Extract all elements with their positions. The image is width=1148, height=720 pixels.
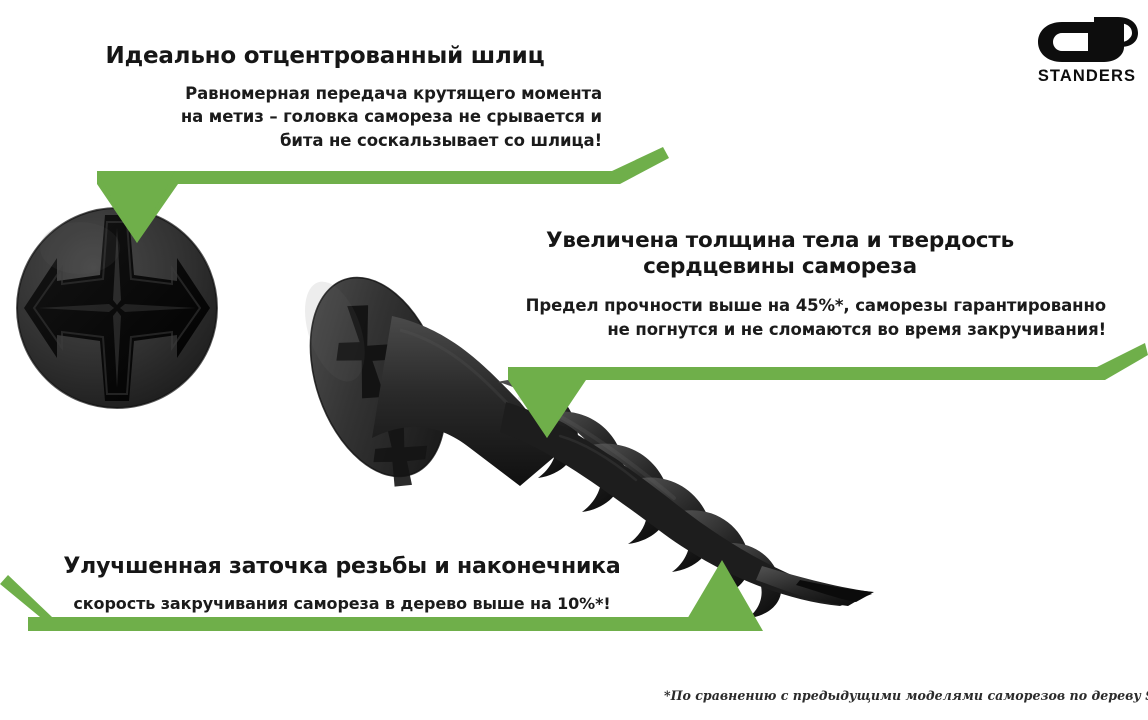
infographic-canvas: STANDERS Идеально отцентрованный шлиц Ра… xyxy=(0,0,1148,720)
callout-2-headline-line-2: сердцевины самореза xyxy=(450,254,1110,280)
callout-1-headline: Идеально отцентрованный шлиц xyxy=(40,42,610,70)
callout-3-headline: Улучшенная заточка резьбы и наконечника xyxy=(22,554,662,581)
callout-bar-2 xyxy=(508,343,1148,438)
callout-1-body-line-2: на метиз – головка самореза не срывается… xyxy=(40,105,602,128)
callout-1-body-line-3: бита не соскальзывает со шлица! xyxy=(40,129,602,152)
callout-2-body: Предел прочности выше на 45%*, саморезы … xyxy=(450,294,1110,341)
callout-2-headline: Увеличена толщина тела и твердость сердц… xyxy=(450,228,1110,280)
callout-text-3: Улучшенная заточка резьбы и наконечника … xyxy=(22,554,662,616)
callout-2-headline-line-1: Увеличена толщина тела и твердость xyxy=(450,228,1110,254)
callout-pointer-3 xyxy=(680,560,763,631)
callout-2-body-line-2: не погнутся и не сломаются во время закр… xyxy=(450,318,1106,341)
standers-link-logo-icon xyxy=(1032,14,1142,66)
brand-wordmark: STANDERS xyxy=(1032,68,1142,85)
brand-logo[interactable]: STANDERS xyxy=(1032,14,1142,94)
callout-2-body-line-1: Предел прочности выше на 45%*, саморезы … xyxy=(450,294,1106,317)
callout-pointer-1 xyxy=(97,171,175,243)
phillips-screw-head-top-view xyxy=(17,208,217,408)
callout-1-body: Равномерная передача крутящего момента н… xyxy=(40,82,610,152)
callout-1-body-line-1: Равномерная передача крутящего момента xyxy=(40,82,602,105)
callout-text-2: Увеличена толщина тела и твердость сердц… xyxy=(450,228,1110,341)
footnote: *По сравнению с предыдущими моделями сам… xyxy=(664,688,1148,703)
callout-pointer-2 xyxy=(508,367,585,438)
callout-3-body: скорость закручивания самореза в дерево … xyxy=(22,593,662,616)
callout-text-1: Идеально отцентрованный шлиц Равномерная… xyxy=(40,42,610,152)
